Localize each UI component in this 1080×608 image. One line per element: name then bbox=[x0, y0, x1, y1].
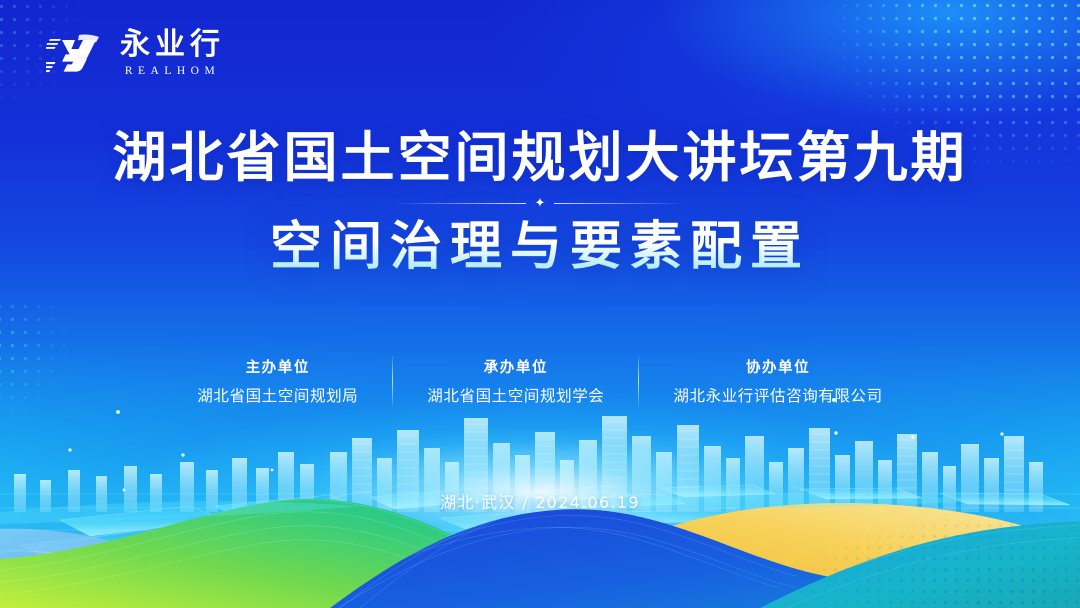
event-date-location: 湖北·武汉 / 2024.06.19 bbox=[0, 489, 1080, 513]
organizer-name: 湖北永业行评估咨询有限公司 bbox=[673, 384, 882, 406]
divider-line-left bbox=[394, 203, 526, 204]
page-subtitle: 空间治理与要素配置 bbox=[0, 216, 1080, 278]
title-divider: ✦ bbox=[0, 197, 1080, 210]
organizer-label: 承办单位 bbox=[427, 356, 604, 377]
page-title: 湖北省国土空间规划大讲坛第九期 bbox=[0, 128, 1080, 188]
brand-name-en: REALHOM bbox=[120, 65, 225, 77]
organizer-name: 湖北省国土空间规划学会 bbox=[427, 384, 604, 406]
brand-logo[interactable]: 永业行 REALHOM bbox=[46, 30, 225, 77]
organizer-label: 主办单位 bbox=[197, 356, 358, 377]
organizer-label: 协办单位 bbox=[673, 356, 882, 377]
organizer-co-host: 承办单位 湖北省国土空间规划学会 bbox=[397, 356, 634, 406]
wave-landscape bbox=[0, 0, 1080, 608]
diamond-star-icon: ✦ bbox=[535, 196, 546, 209]
organizer-separator bbox=[392, 356, 393, 406]
organizer-host: 主办单位 湖北省国土空间规划局 bbox=[167, 356, 388, 406]
divider-line-right bbox=[554, 203, 686, 204]
organizer-separator bbox=[638, 356, 639, 406]
organizer-supporter: 协办单位 湖北永业行评估咨询有限公司 bbox=[643, 356, 912, 406]
background-scene bbox=[0, 0, 1080, 608]
event-poster: 永业行 REALHOM 湖北省国土空间规划大讲坛第九期 ✦ 空间治理与要素配置 … bbox=[0, 0, 1080, 608]
brand-name-cn: 永业行 bbox=[120, 30, 225, 60]
dot-matrix-bottom-right bbox=[786, 498, 1080, 608]
organizer-list: 主办单位 湖北省国土空间规划局 承办单位 湖北省国土空间规划学会 协办单位 湖北… bbox=[0, 356, 1080, 406]
organizer-name: 湖北省国土空间规划局 bbox=[197, 384, 358, 406]
yh-monogram-icon bbox=[46, 31, 108, 77]
hero-title-block: 湖北省国土空间规划大讲坛第九期 ✦ 空间治理与要素配置 bbox=[0, 128, 1080, 279]
